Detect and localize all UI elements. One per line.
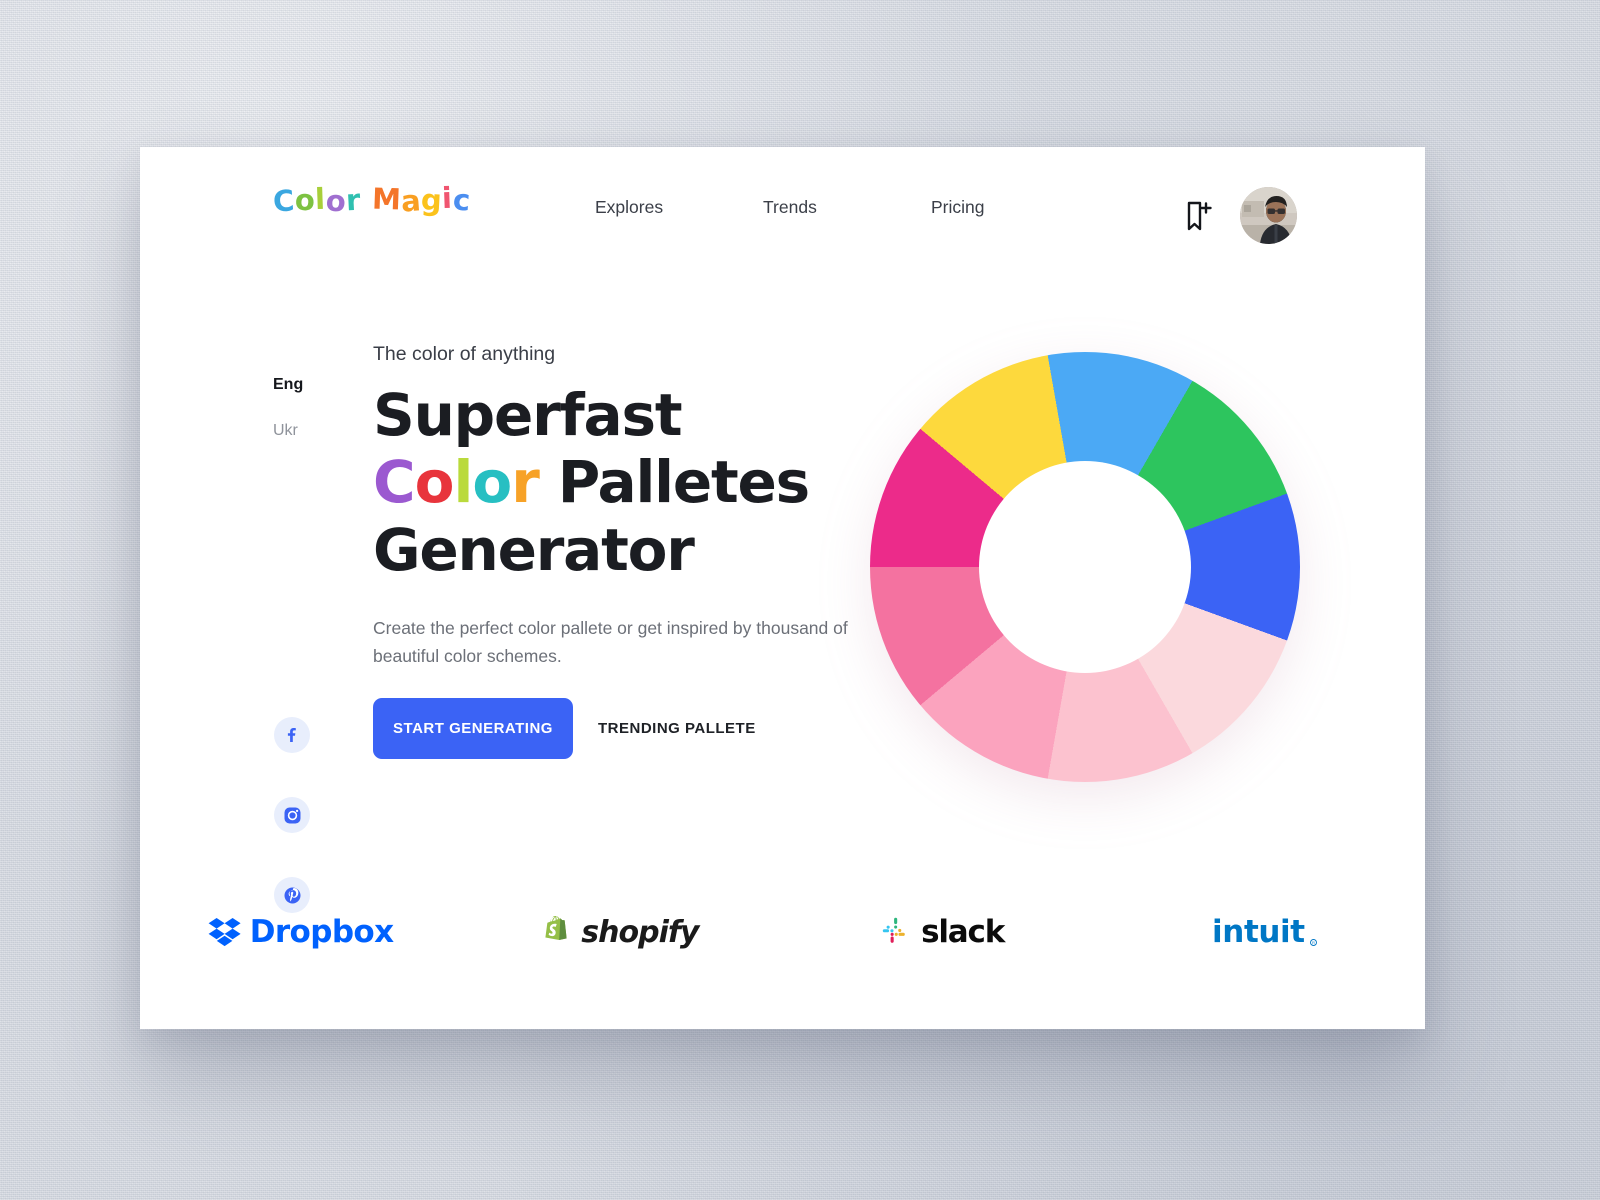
color-wheel-chart[interactable] [870,352,1300,782]
hero-actions: START GENERATING TRENDING PALLETE [373,698,756,759]
headline-line-1: Superfast [373,381,681,449]
language-option-ukr[interactable]: Ukr [273,408,303,454]
headline-color-letter: r [511,448,539,516]
logo-letter: r [345,183,362,218]
dropbox-wordmark: Dropbox [250,914,394,950]
headline-color-letter: o [415,448,454,516]
main-navigation: Explores Trends Pricing [595,197,1099,218]
header-actions [1186,187,1297,244]
logo-letter: o [324,183,347,218]
logo-letter: M [371,181,402,216]
page-title: Superfast Color Palletes Generator [373,382,893,584]
landing-page-card: Color Magic Explores Trends Pricing [140,147,1425,1029]
avatar[interactable] [1240,187,1297,244]
logo-letter: g [420,182,443,217]
hero-section: The color of anything Superfast Color Pa… [373,343,893,670]
nav-item-trends[interactable]: Trends [763,197,931,218]
instagram-icon [283,806,302,825]
donut-center-hole [979,461,1192,674]
brand-logo-shopify[interactable]: shopify [461,915,782,950]
hero-eyebrow: The color of anything [373,343,893,366]
language-option-eng[interactable]: Eng [273,362,303,408]
shopify-wordmark: shopify [581,915,698,950]
logo-space [361,183,372,217]
site-header: Color Magic Explores Trends Pricing [140,147,1425,272]
intuit-registered-icon: R [1310,939,1317,946]
brand-logo[interactable]: Color Magic [273,183,470,217]
headline-color-letter: o [472,448,511,516]
slack-wordmark: slack [921,914,1004,950]
logo-letter: C [272,183,296,218]
brand-logo-dropbox[interactable]: Dropbox [140,914,461,950]
headline-color-letter: C [373,448,415,516]
headline-color-letter: l [453,448,472,516]
headline-color-word: Color [373,448,539,516]
facebook-icon [283,726,301,744]
headline-line-3: Generator [373,516,694,584]
brand-logo-row: Dropbox shopify [140,892,1425,972]
bookmark-add-icon[interactable] [1186,201,1212,231]
shopify-icon [545,916,573,949]
svg-text:R: R [1312,940,1315,945]
logo-letter: c [452,182,472,217]
nav-item-explores[interactable]: Explores [595,197,763,218]
social-link-facebook[interactable] [274,717,310,753]
hero-subtitle: Create the perfect color pallete or get … [373,614,853,671]
headline-line-2-rest: Palletes [539,448,809,516]
dropbox-icon [208,916,242,948]
slack-icon [882,917,913,948]
intuit-wordmark: intuit [1212,914,1305,950]
brand-logo-slack[interactable]: slack [783,914,1104,950]
logo-letter: o [294,182,316,217]
language-switcher: Eng Ukr [273,362,303,454]
brand-logo-intuit[interactable]: intuit R [1104,914,1425,950]
trending-pallete-button[interactable]: TRENDING PALLETE [598,720,756,737]
social-link-instagram[interactable] [274,797,310,833]
start-generating-button[interactable]: START GENERATING [373,698,573,759]
logo-letter: a [400,183,422,218]
nav-item-pricing[interactable]: Pricing [931,197,1099,218]
